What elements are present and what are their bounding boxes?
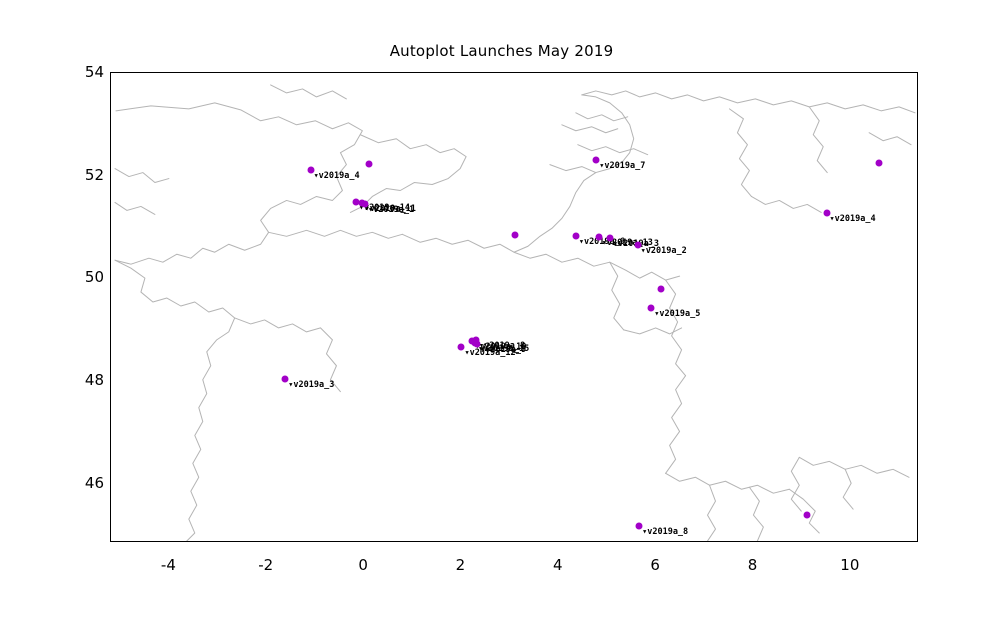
x-axis-tick <box>364 541 365 542</box>
coastline-map <box>111 73 917 541</box>
x-axis-tick-label: -2 <box>258 556 273 574</box>
x-axis-minor-tick <box>900 541 901 542</box>
x-axis-tick <box>169 541 170 542</box>
y-axis-minor-tick <box>110 227 111 228</box>
x-axis-tick <box>267 541 268 542</box>
data-point-label: ▾v2019a_1 <box>368 206 414 215</box>
data-point-marker <box>365 161 372 168</box>
x-axis-tick-label: 10 <box>840 556 859 574</box>
x-axis-tick-label: 0 <box>358 556 368 574</box>
data-point-marker <box>512 231 519 238</box>
data-point-label: ▾v2019a_4 <box>314 172 360 181</box>
x-axis-tick <box>559 541 560 542</box>
data-point-label: ▾v2019a_8 <box>642 528 688 537</box>
x-axis-tick <box>461 541 462 542</box>
x-axis-minor-tick <box>510 541 511 542</box>
x-axis-tick <box>851 541 852 542</box>
y-axis-labels: 5452504846 <box>0 72 104 542</box>
y-axis-tick <box>110 278 111 279</box>
x-axis-minor-tick <box>607 541 608 542</box>
data-point-label: ▾v2019a_2 <box>641 247 687 256</box>
y-axis-tick <box>110 381 111 382</box>
y-axis-minor-tick <box>110 124 111 125</box>
data-point-marker <box>804 511 811 518</box>
x-axis-minor-tick <box>413 541 414 542</box>
data-point-label: ▾v2019a_7 <box>599 162 645 171</box>
x-axis-minor-tick <box>802 541 803 542</box>
data-point-marker <box>658 285 665 292</box>
x-axis-tick-label: 6 <box>650 556 660 574</box>
x-axis-tick <box>656 541 657 542</box>
x-axis-minor-tick <box>121 541 122 542</box>
y-axis-tick-label: 50 <box>85 268 104 286</box>
y-axis-tick-label: 46 <box>85 474 104 492</box>
y-axis-tick-label: 54 <box>85 63 104 81</box>
x-axis-tick <box>754 541 755 542</box>
data-point-marker <box>876 159 883 166</box>
data-point-label: ▾v2019a_5 <box>654 310 700 319</box>
x-axis-labels: -4-20246810 <box>110 552 918 580</box>
y-axis-minor-tick <box>110 433 111 434</box>
y-axis-minor-tick <box>110 330 111 331</box>
data-point-label: ▾v2019a_15 <box>478 345 529 354</box>
data-point-label: ▾v2019a_3 <box>288 381 334 390</box>
x-axis-tick-label: 2 <box>456 556 466 574</box>
x-axis-minor-tick <box>315 541 316 542</box>
x-axis-minor-tick <box>218 541 219 542</box>
y-axis-tick-label: 48 <box>85 371 104 389</box>
y-axis-tick <box>110 73 111 74</box>
x-axis-tick-label: 4 <box>553 556 563 574</box>
y-axis-tick <box>110 484 111 485</box>
x-axis-tick-label: -4 <box>161 556 176 574</box>
plot-area: ▾v2019a_4▾v2019a_14▾v2019a_11▾v2019a_1▾v… <box>110 72 918 542</box>
chart-title: Autoplot Launches May 2019 <box>0 42 1003 60</box>
y-axis-minor-tick <box>110 535 111 536</box>
x-axis-tick-label: 8 <box>748 556 758 574</box>
y-axis-tick-label: 52 <box>85 166 104 184</box>
data-point-label: ▾v2019a_4 <box>830 215 876 224</box>
y-axis-tick <box>110 176 111 177</box>
x-axis-minor-tick <box>705 541 706 542</box>
figure-canvas: Autoplot Launches May 2019 5452504846 <box>0 0 1003 633</box>
